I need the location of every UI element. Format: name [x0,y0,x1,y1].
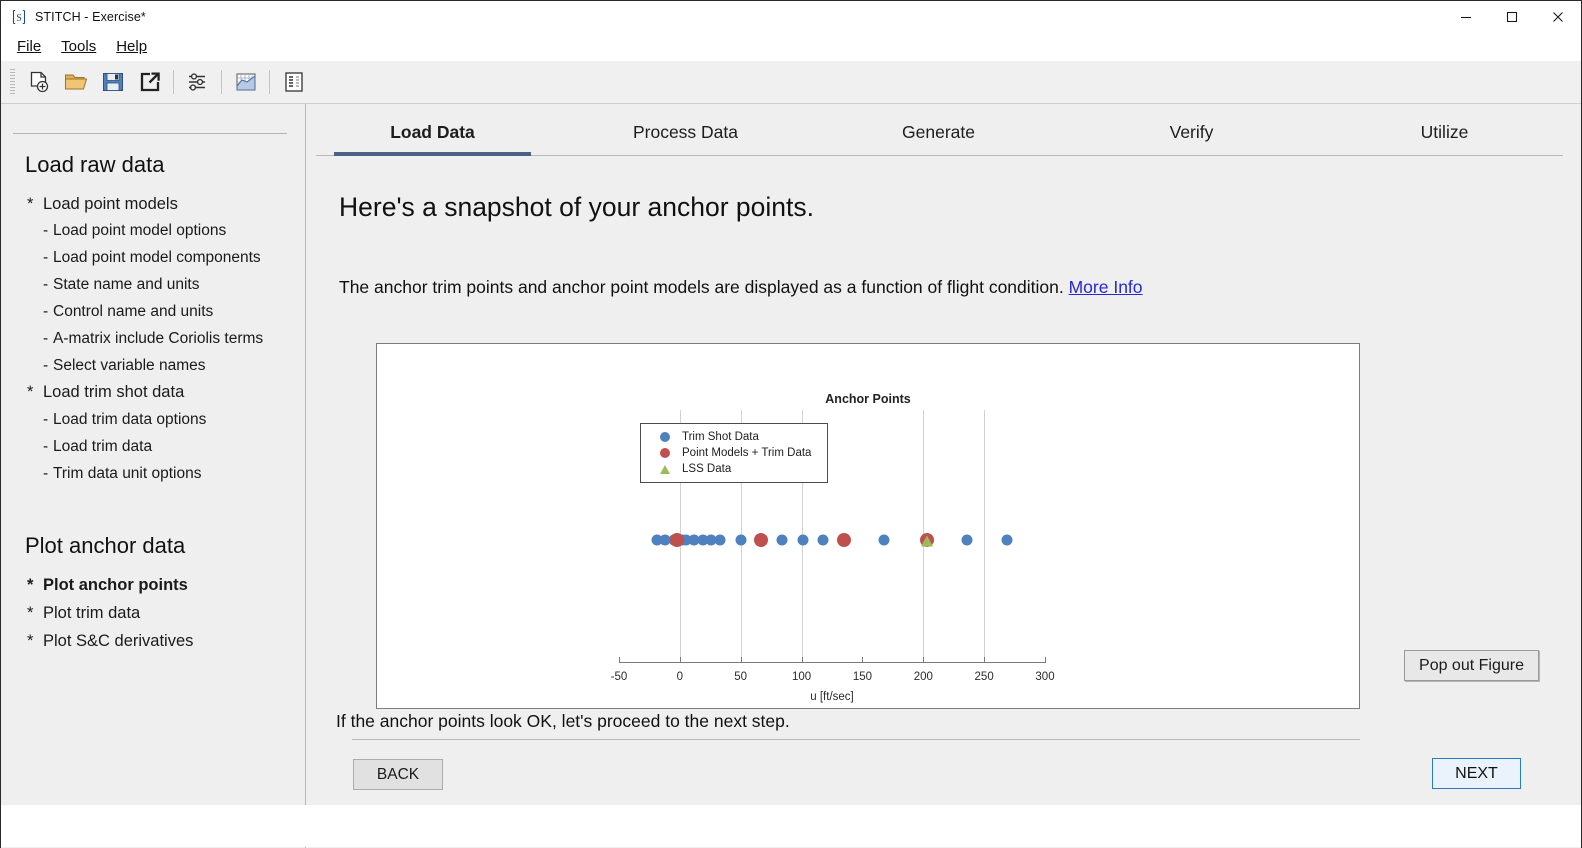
tab-label: Process Data [633,122,738,142]
toolbar-grip[interactable] [10,69,15,95]
export-share-icon[interactable] [131,64,168,101]
data-point-point-model [670,533,684,547]
window-controls [1443,1,1581,32]
sidebar-item-plot-trim-data[interactable]: * Plot trim data [1,599,305,627]
x-tick-label: 100 [792,671,811,683]
menu-file-label: File [17,38,41,55]
x-tick [802,657,803,663]
x-tick [1045,657,1046,663]
title-bar-left: S STITCH - Exercise* [1,9,146,25]
x-tick [741,657,742,663]
sidebar-item-load-point-model-options[interactable]: - Load point model options [1,218,305,245]
sidebar-item-label: Plot anchor points [43,576,188,595]
open-folder-icon[interactable] [57,64,94,101]
save-disk-icon[interactable] [94,64,131,101]
x-tick-label: 0 [677,671,683,683]
anchor-points-chart: Anchor Points [377,344,1359,708]
tab-label: Utilize [1421,122,1469,142]
data-point-trim-shot [715,535,726,546]
toolbar [1,61,1581,104]
new-document-icon[interactable] [20,64,57,101]
x-tick [984,657,985,663]
surface-plot-icon[interactable] [227,64,264,101]
tab-bar: Load Data Process Data Generate Verify U… [306,104,1581,153]
sidebar-item-label: Load trim data options [53,411,206,429]
menu-help[interactable]: Help [108,36,155,57]
legend-marker-triangle-green-icon [648,465,682,474]
report-list-icon[interactable] [275,64,312,101]
bullet-star-icon: * [27,383,43,402]
data-point-point-model [837,533,851,547]
bullet-star-icon: * [27,604,43,623]
figure-caption: If the anchor points look OK, let's proc… [336,711,790,732]
x-axis-label: u [ft/sec] [619,691,1045,703]
figure-panel[interactable]: Anchor Points [376,343,1360,709]
sidebar-item-label: Load trim data [53,438,152,456]
menu-help-label: Help [116,38,147,55]
chart-legend: Trim Shot Data Point Models + Trim Data … [640,423,828,483]
sidebar-item-control-name-and-units[interactable]: - Control name and units [1,298,305,325]
tab-process-data[interactable]: Process Data [559,122,812,153]
x-tick-label: 300 [1035,671,1054,683]
bullet-dash-icon: - [43,276,53,294]
sidebar-item-load-point-models[interactable]: * Load point models [1,190,305,218]
main-panel: Load Data Process Data Generate Verify U… [306,104,1581,848]
legend-entry-trim-shot: Trim Shot Data [648,429,820,445]
legend-marker-circle-blue-icon [648,432,682,442]
sidebar-spacer [1,487,305,515]
window-title: STITCH - Exercise* [35,10,146,24]
legend-entry-lss: LSS Data [648,461,820,477]
data-point-point-model [754,533,768,547]
sidebar-item-select-variable-names[interactable]: - Select variable names [1,352,305,379]
bullet-star-icon: * [27,632,43,651]
sidebar-item-trim-data-unit-options[interactable]: - Trim data unit options [1,460,305,487]
menu-bar: File Tools Help [1,32,1581,61]
x-tick-label: -50 [611,671,628,683]
data-point-trim-shot [818,535,829,546]
sidebar-item-load-point-model-components[interactable]: - Load point model components [1,245,305,272]
body: Load raw data * Load point models - Load… [1,104,1581,848]
x-tick-label: 50 [734,671,747,683]
bullet-dash-icon: - [43,438,53,456]
tab-label: Verify [1170,122,1214,142]
legend-marker-circle-red-icon [648,448,682,458]
page-description-text: The anchor trim points and anchor point … [339,277,1064,297]
x-tick [619,657,620,663]
data-point-lss [921,536,933,547]
toolbar-separator-1 [173,70,174,94]
bullet-dash-icon: - [43,249,53,267]
sidebar-heading-load-raw-data: Load raw data [1,134,305,178]
sidebar-item-label: Load point model components [53,249,261,267]
legend-label: Point Models + Trim Data [682,447,811,459]
sidebar-item-a-matrix-coriolis[interactable]: - A-matrix include Coriolis terms [1,325,305,352]
tab-verify[interactable]: Verify [1065,122,1318,153]
menu-file[interactable]: File [9,36,49,57]
application-window: S STITCH - Exercise* File Tools Help [0,0,1582,848]
sidebar-list-plot-anchor-data: * Plot anchor points * Plot trim data * … [1,559,305,655]
sidebar-item-label: A-matrix include Coriolis terms [53,330,263,348]
x-tick-label: 200 [914,671,933,683]
bullet-dash-icon: - [43,465,53,483]
tab-generate[interactable]: Generate [812,122,1065,153]
page-description: The anchor trim points and anchor point … [306,223,1581,298]
tab-load-data[interactable]: Load Data [306,122,559,153]
stitch-logo-icon: S [11,9,27,25]
menu-tools[interactable]: Tools [53,36,104,57]
x-tick [680,657,681,663]
next-button[interactable]: NEXT [1432,758,1521,789]
toolbar-separator-2 [221,70,222,94]
sidebar: Load raw data * Load point models - Load… [1,104,306,848]
data-point-trim-shot [1002,535,1013,546]
status-strip [1,805,1581,847]
sidebar-item-load-trim-data-options[interactable]: - Load trim data options [1,407,305,434]
bullet-star-icon: * [27,576,43,595]
tab-label: Load Data [390,122,475,142]
back-button[interactable]: BACK [353,759,443,790]
title-bar: S STITCH - Exercise* [1,1,1581,32]
x-tick [862,657,863,663]
sidebar-item-label: Control name and units [53,303,213,321]
x-tick [923,657,924,663]
toolbar-separator-3 [269,70,270,94]
gridline-250 [984,410,985,663]
more-info-link[interactable]: More Info [1069,277,1143,297]
sidebar-item-label: Load trim shot data [43,383,184,402]
legend-label: Trim Shot Data [682,431,759,443]
data-point-trim-shot [797,535,808,546]
x-axis-line [619,662,1045,663]
chart-title: Anchor Points [377,392,1359,406]
pop-out-figure-button[interactable]: Pop out Figure [1404,650,1539,681]
close-button[interactable] [1535,1,1581,32]
caption-divider [352,739,1360,740]
legend-label: LSS Data [682,463,731,475]
settings-sliders-icon[interactable] [179,64,216,101]
sidebar-item-label: Plot trim data [43,604,140,623]
svg-text:S: S [16,13,22,24]
sidebar-item-state-name-and-units[interactable]: - State name and units [1,272,305,299]
data-point-trim-shot [735,535,746,546]
tab-label: Generate [902,122,975,142]
legend-entry-point-models: Point Models + Trim Data [648,445,820,461]
sidebar-heading-plot-anchor-data: Plot anchor data [1,515,305,559]
sidebar-item-plot-anchor-points[interactable]: * Plot anchor points [1,571,305,599]
sidebar-list-load-raw-data: * Load point models - Load point model o… [1,178,305,487]
minimize-button[interactable] [1443,1,1489,32]
sidebar-item-label: Plot S&C derivatives [43,632,193,651]
data-point-trim-shot [962,535,973,546]
bullet-dash-icon: - [43,303,53,321]
tab-utilize[interactable]: Utilize [1318,122,1571,153]
bullet-dash-icon: - [43,330,53,348]
menu-tools-label: Tools [61,38,96,55]
x-tick-label: 150 [853,671,872,683]
maximize-button[interactable] [1489,1,1535,32]
bullet-dash-icon: - [43,222,53,240]
bullet-star-icon: * [27,195,43,214]
bullet-dash-icon: - [43,357,53,375]
sidebar-item-load-trim-data[interactable]: - Load trim data [1,434,305,461]
data-point-trim-shot [777,535,788,546]
sidebar-item-label: State name and units [53,276,200,294]
data-point-trim-shot [879,535,890,546]
bullet-dash-icon: - [43,411,53,429]
sidebar-item-label: Trim data unit options [53,465,201,483]
sidebar-item-plot-sc-derivatives[interactable]: * Plot S&C derivatives [1,627,305,655]
page-title: Here's a snapshot of your anchor points. [306,156,1581,223]
x-tick-label: 250 [975,671,994,683]
sidebar-item-load-trim-shot-data[interactable]: * Load trim shot data [1,379,305,407]
sidebar-item-label: Load point models [43,195,178,214]
sidebar-item-label: Load point model options [53,222,226,240]
sidebar-item-label: Select variable names [53,357,206,375]
